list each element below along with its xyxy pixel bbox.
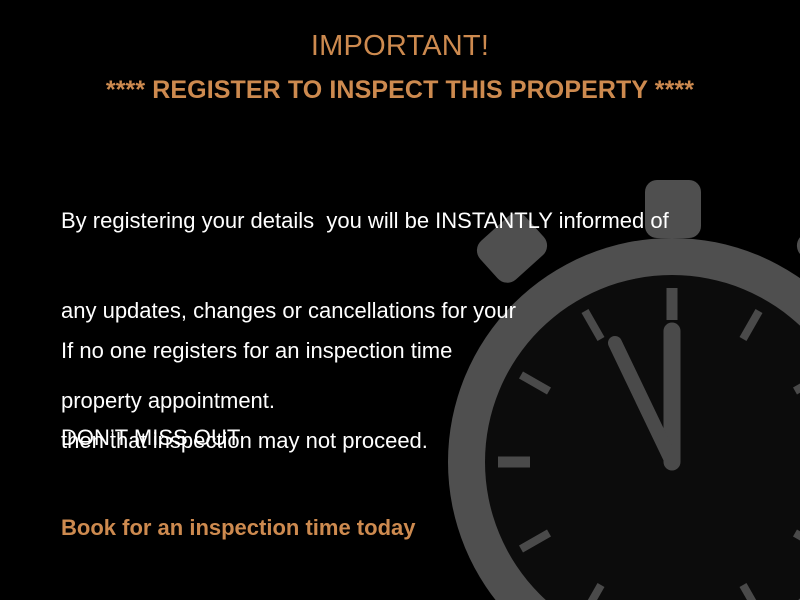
paragraph-call-to-action: DON’T MISS OUT Book for an inspection ti… (61, 363, 415, 600)
cta-dont-miss-out: DON’T MISS OUT (61, 423, 415, 453)
paragraph-2-line-1: If no one registers for an inspection ti… (61, 336, 452, 366)
cta-book-inspection: Book for an inspection time today (61, 513, 415, 543)
slide-canvas: IMPORTANT! **** REGISTER TO INSPECT THIS… (0, 0, 800, 600)
paragraph-1-line-1: By registering your details you will be … (61, 206, 669, 236)
heading-register-to-inspect: **** REGISTER TO INSPECT THIS PROPERTY *… (0, 75, 800, 106)
heading-important: IMPORTANT! (0, 29, 800, 63)
text-layer: IMPORTANT! **** REGISTER TO INSPECT THIS… (0, 0, 800, 600)
